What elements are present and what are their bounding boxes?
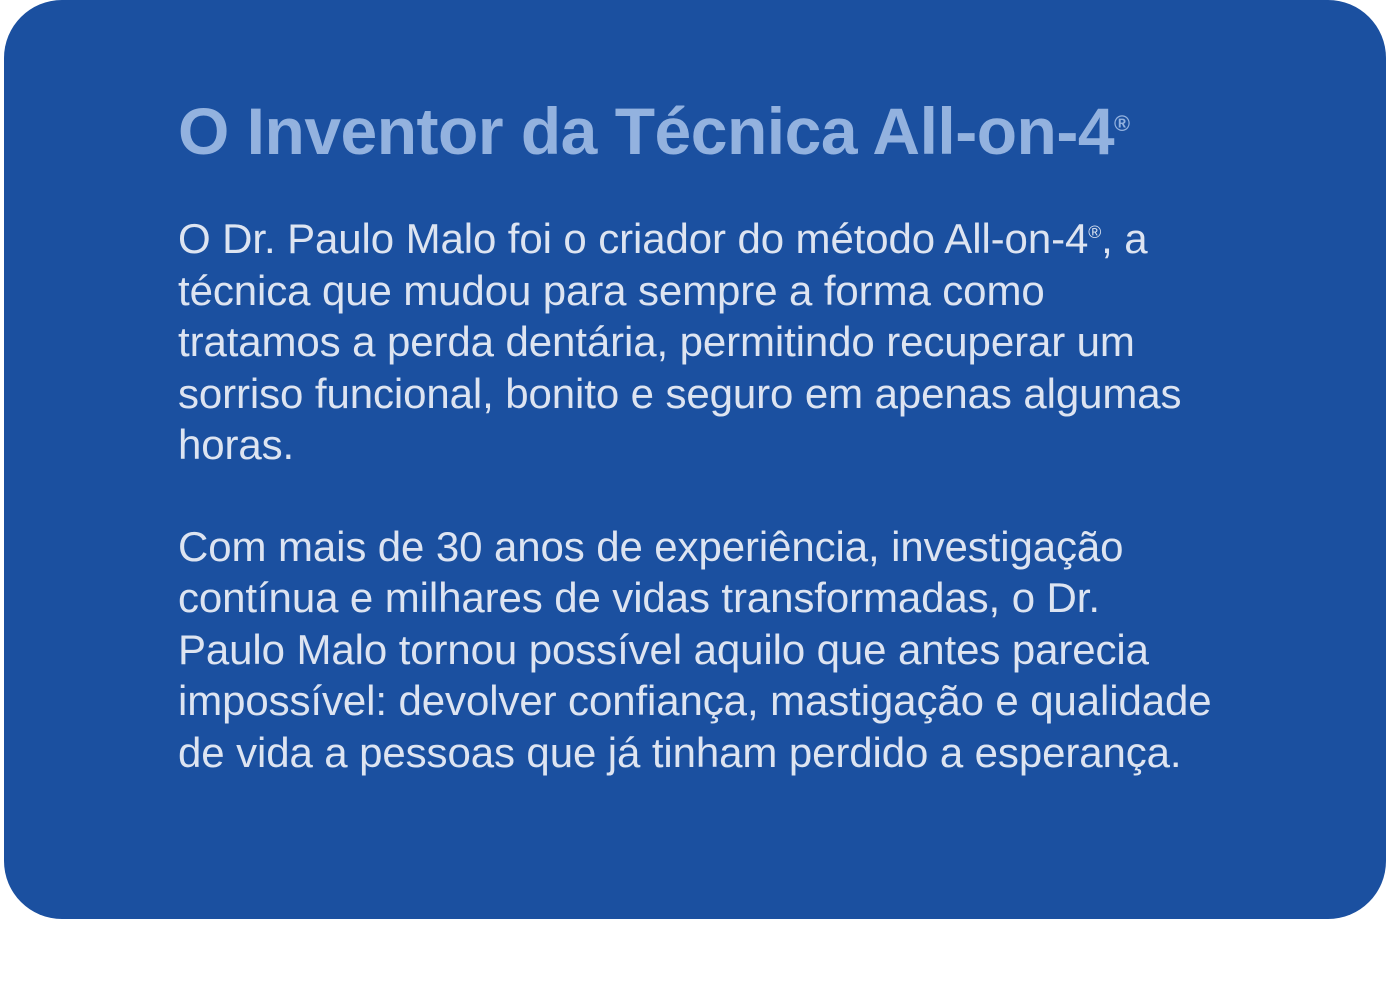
info-card: O Inventor da Técnica All-on-4® O Dr. Pa… <box>4 0 1386 919</box>
card-content: O Inventor da Técnica All-on-4® O Dr. Pa… <box>178 96 1266 778</box>
paragraph-1-text-before-mark: O Dr. Paulo Malo foi o criador do método… <box>178 215 1088 262</box>
body-paragraph-2: Com mais de 30 anos de experiência, inve… <box>178 521 1218 779</box>
registered-trademark-icon: ® <box>1088 222 1101 242</box>
registered-trademark-icon: ® <box>1114 111 1130 136</box>
card-body: O Dr. Paulo Malo foi o criador do método… <box>178 167 1266 778</box>
page-canvas: O Inventor da Técnica All-on-4® O Dr. Pa… <box>0 0 1394 1007</box>
body-paragraph-1: O Dr. Paulo Malo foi o criador do método… <box>178 213 1218 471</box>
page-title: O Inventor da Técnica All-on-4® <box>178 96 1266 167</box>
paragraph-2-text: Com mais de 30 anos de experiência, inve… <box>178 523 1212 776</box>
page-title-text: O Inventor da Técnica All-on-4 <box>178 94 1114 168</box>
